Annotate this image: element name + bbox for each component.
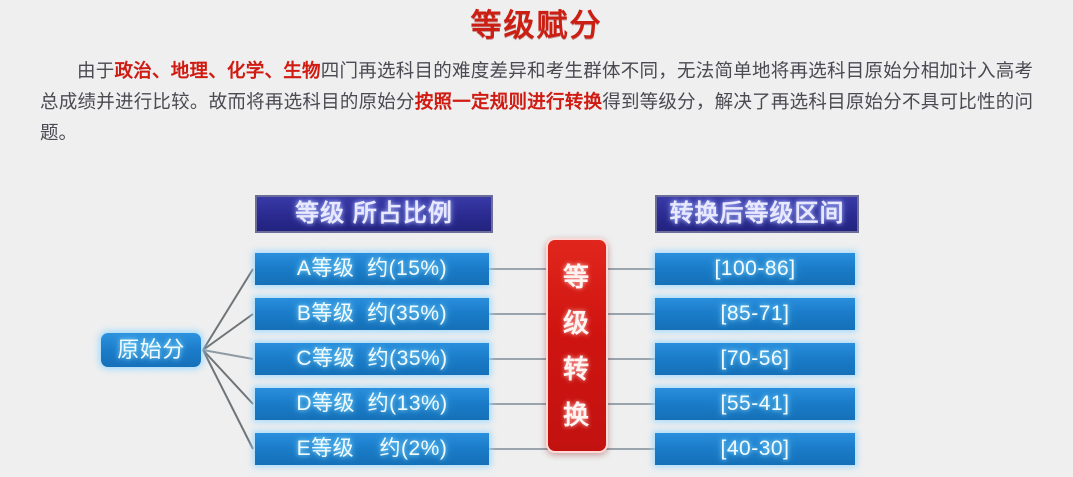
convert-char-4: 换 <box>563 392 591 438</box>
intro-paragraph: 由于政治、地理、化学、生物四门再选科目的难度差异和考生群体不同，无法简单地将再选… <box>40 55 1033 148</box>
paragraph-highlight-rule: 按照一定规则进行转换 <box>415 91 602 112</box>
grade-conversion-diagram: 等级 所占比例 转换后等级区间 原始分 A等级 约(15%) B等级 约(35%… <box>0 183 1073 477</box>
grade-conversion-box[interactable]: 等 级 转 换 <box>546 238 608 453</box>
grade-box-d[interactable]: D等级 约(13%) <box>255 388 489 420</box>
grade-box-c[interactable]: C等级 约(35%) <box>255 343 489 375</box>
range-box-c[interactable]: [70-56] <box>655 343 855 375</box>
page-title: 等级赋分 <box>0 5 1073 47</box>
convert-char-2: 级 <box>563 300 591 346</box>
range-box-b[interactable]: [85-71] <box>655 298 855 330</box>
paragraph-segment-1: 由于 <box>77 60 115 81</box>
grade-box-b[interactable]: B等级 约(35%) <box>255 298 489 330</box>
range-box-a[interactable]: [100-86] <box>655 253 855 285</box>
convert-char-3: 转 <box>563 346 591 392</box>
paragraph-highlight-subjects: 政治、地理、化学、生物 <box>115 60 321 81</box>
grade-box-e[interactable]: E等级 约(2%) <box>255 433 489 465</box>
grade-box-a[interactable]: A等级 约(15%) <box>255 253 489 285</box>
range-box-e[interactable]: [40-30] <box>655 433 855 465</box>
convert-char-1: 等 <box>563 254 591 300</box>
header-converted-range: 转换后等级区间 <box>655 195 859 233</box>
range-box-d[interactable]: [55-41] <box>655 388 855 420</box>
header-grade-ratio: 等级 所占比例 <box>255 195 493 233</box>
raw-score-box[interactable]: 原始分 <box>101 333 201 367</box>
connector-lines <box>0 183 1073 477</box>
